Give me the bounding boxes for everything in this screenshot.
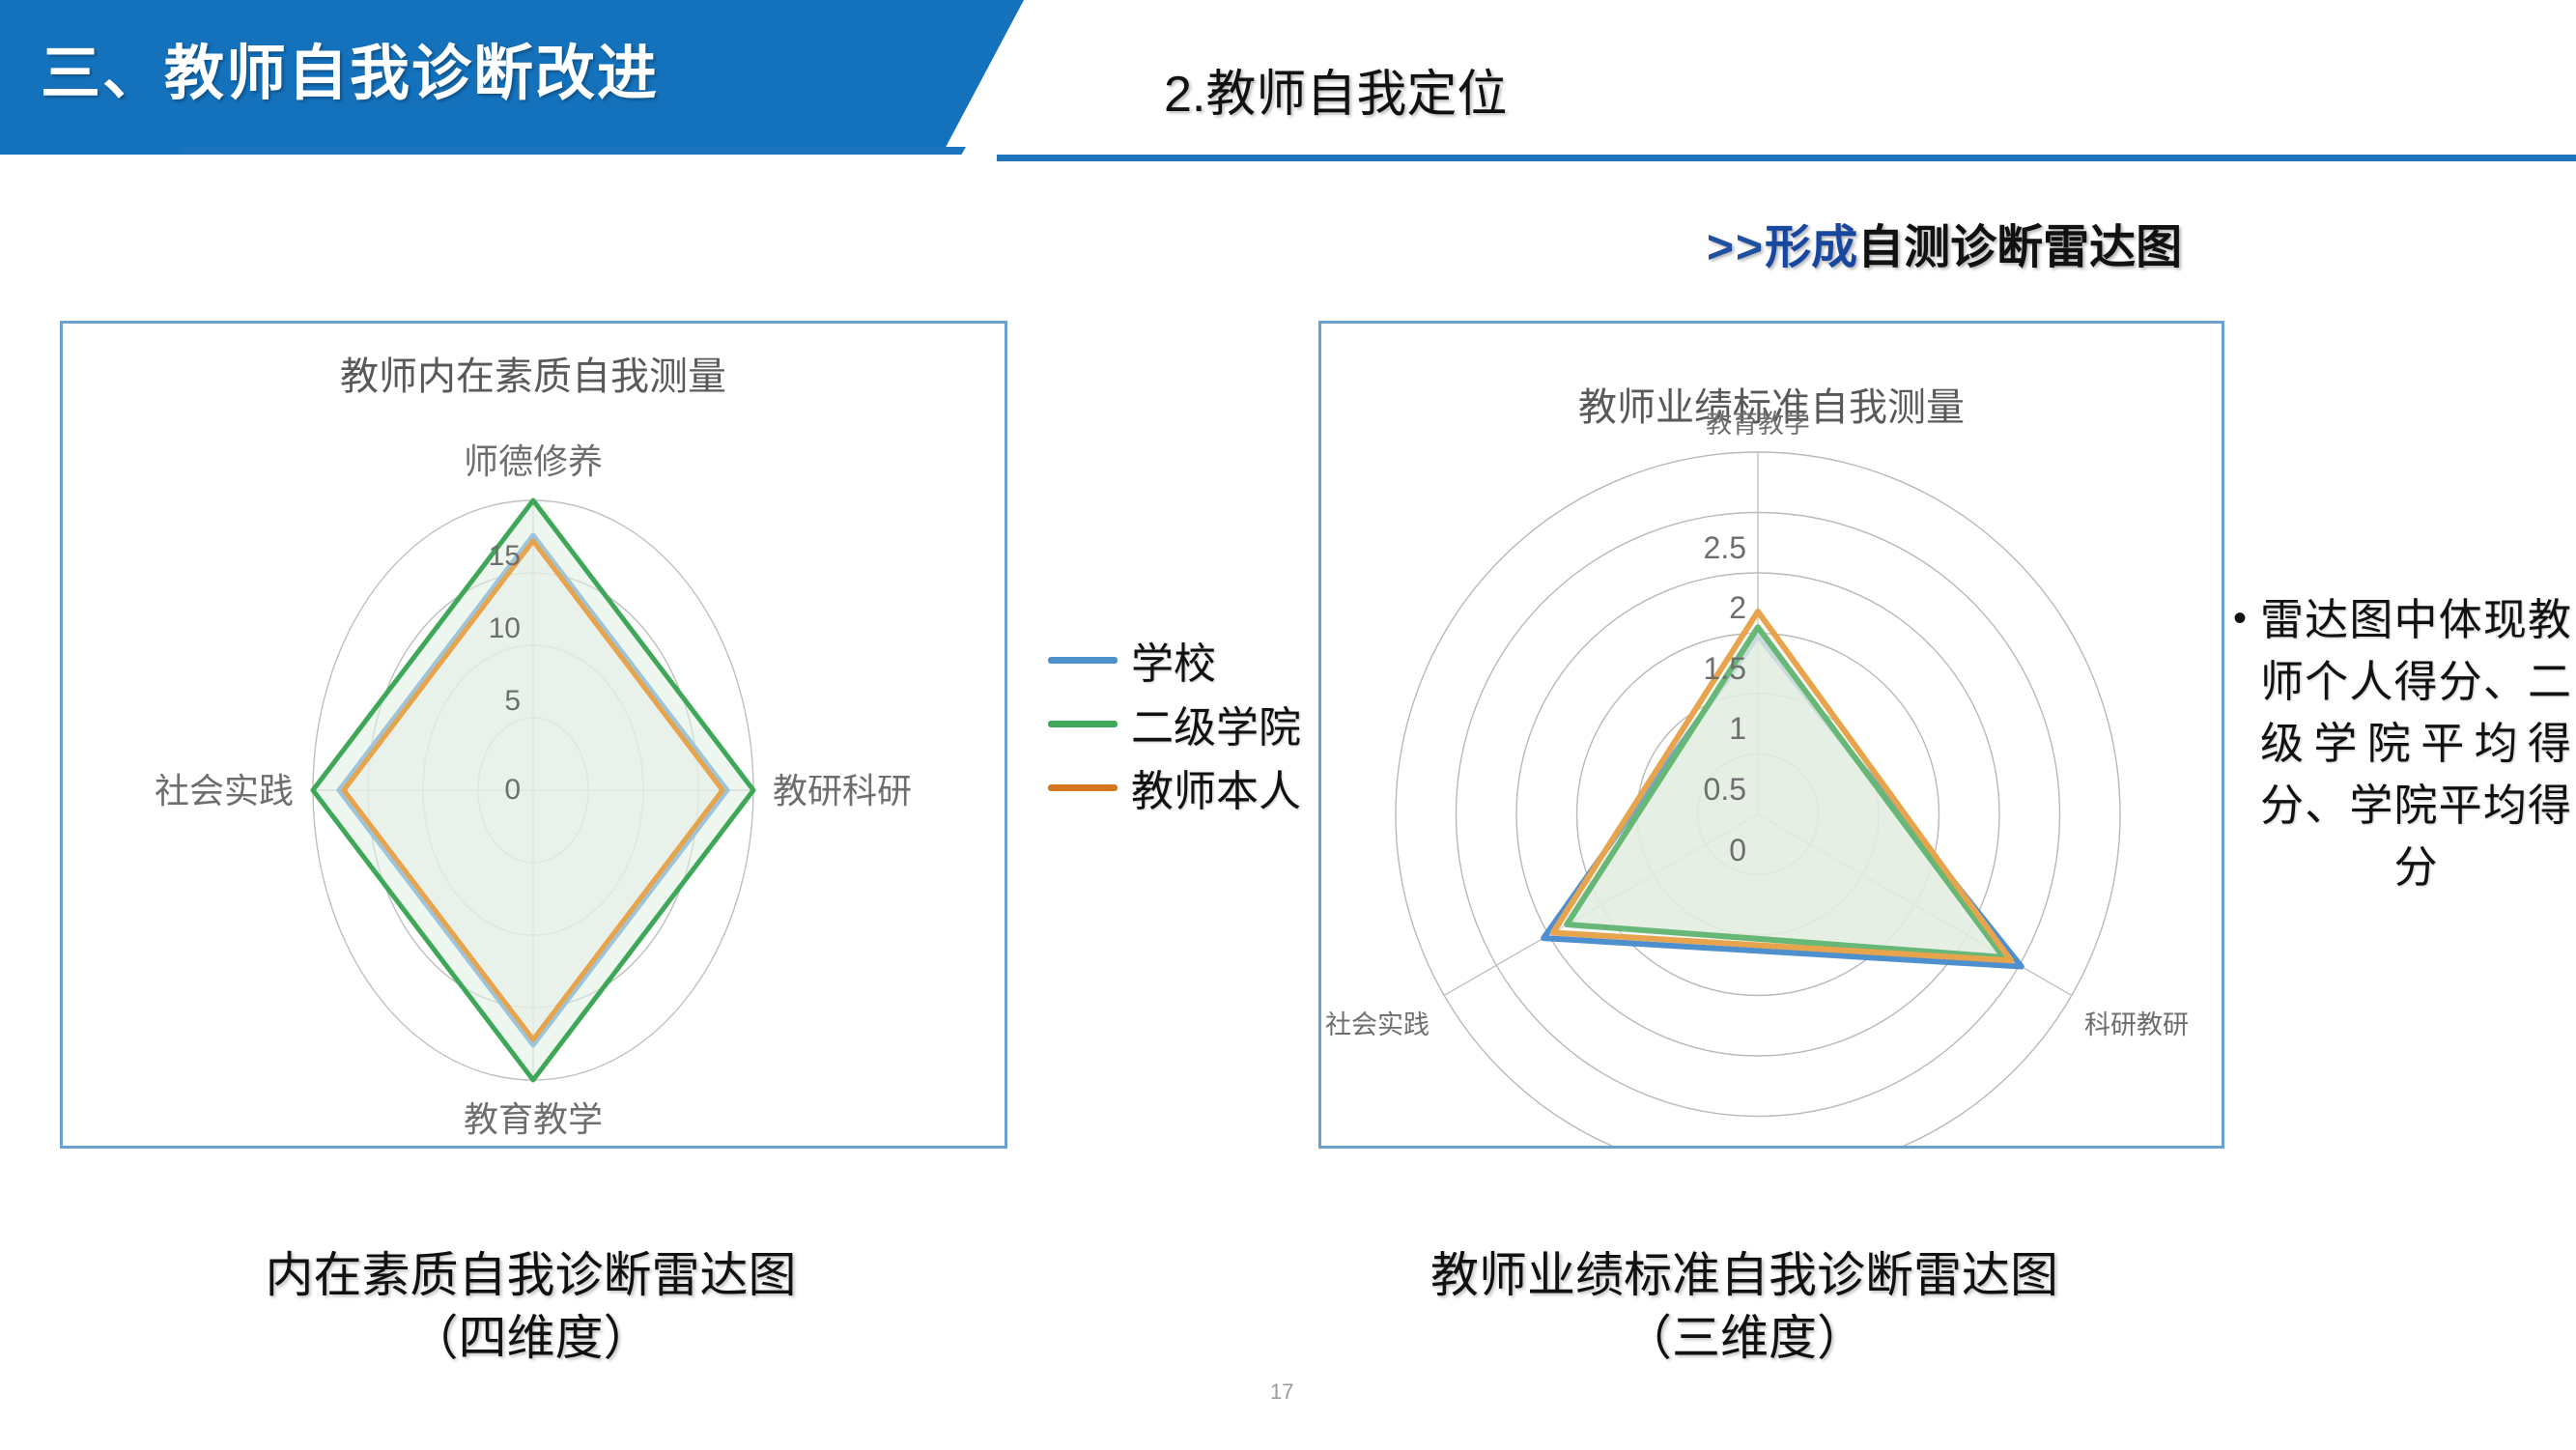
page-number: 17	[1270, 1379, 1293, 1405]
bullet-note-text: 雷达图中体现教师个人得分、二级学院平均得分、学院平均得分	[2260, 589, 2571, 897]
axis-label-right-lower-left: 社会实践	[1325, 1010, 1430, 1039]
legend-swatch-teacher	[1048, 784, 1118, 791]
tick-label-right-1-5: 1.5	[1704, 651, 1746, 686]
legend-swatch-college	[1048, 721, 1118, 727]
axis-label-right-lower-right: 科研教研	[2084, 1010, 2189, 1039]
page-title: 2.教师自我定位	[1164, 53, 1507, 126]
legend-swatch-school	[1048, 657, 1118, 664]
tick-label-right-0: 0	[1729, 833, 1746, 867]
tick-label-right-1: 1	[1729, 711, 1746, 746]
radar-series-teacher-right	[1553, 611, 2011, 960]
caption-right-chart: 教师业绩标准自我诊断雷达图 （三维度）	[1294, 1244, 2194, 1370]
radar-chart-inner-quality: 教师内在素质自我测量 15 10 5 0 师德修养 教研科研 教育教学 社会实践	[63, 324, 1005, 1146]
tick-label-left-15: 15	[489, 540, 521, 572]
axis-label-left-top: 师德修养	[464, 441, 603, 481]
tick-label-right-2: 2	[1729, 590, 1746, 625]
legend-item-teacher: 教师本人	[1048, 755, 1289, 819]
tick-label-left-10: 10	[489, 612, 521, 644]
axis-label-right-top: 教育教学	[1706, 410, 1810, 439]
subheading-highlight: 形成	[1765, 222, 1857, 273]
caption-left-chart: 内在素质自我诊断雷达图 （四维度）	[60, 1244, 1002, 1370]
chart-panel-inner-quality: 教师内在素质自我测量 15 10 5 0 师德修养 教研科研 教育教学 社会实践	[60, 321, 1007, 1149]
axis-label-left-bottom: 教育教学	[464, 1099, 603, 1139]
tick-label-left-5: 5	[504, 685, 521, 717]
tick-label-right-2-5: 2.5	[1704, 530, 1746, 565]
legend-item-college: 二级学院	[1048, 692, 1289, 755]
chart-panel-performance: 教师业绩标准自我测量 2.5 2 1.5 1 0.5 0 教育教学	[1318, 321, 2224, 1149]
legend-label-teacher: 教师本人	[1131, 756, 1301, 818]
tick-label-left-0: 0	[504, 774, 521, 806]
radar-chart-performance: 教师业绩标准自我测量 2.5 2 1.5 1 0.5 0 教育教学	[1321, 324, 2222, 1146]
caption-right-line1: 教师业绩标准自我诊断雷达图	[1430, 1248, 2058, 1302]
caption-left-line1: 内在素质自我诊断雷达图	[266, 1248, 797, 1302]
tick-label-right-0-5: 0.5	[1704, 772, 1746, 807]
chart-legend: 学校 二级学院 教师本人	[1048, 628, 1289, 819]
section-underline	[997, 155, 2576, 161]
legend-label-school: 学校	[1131, 629, 1216, 691]
subheading: >>形成自测诊断雷达图	[1707, 209, 2182, 276]
chart-title-left: 教师内在素质自我测量	[340, 355, 726, 398]
bullet-dot-icon: •	[2233, 599, 2247, 638]
banner-section-title: 三、教师自我诊断改进	[41, 24, 659, 111]
caption-right-line2: （三维度）	[1294, 1307, 2194, 1370]
chevron-right-icon: >>	[1707, 222, 1765, 273]
bullet-note: • 雷达图中体现教师个人得分、二级学院平均得分、学院平均得分	[2233, 589, 2571, 897]
caption-left-line2: （四维度）	[60, 1307, 1002, 1370]
axis-label-left-right: 教研科研	[773, 771, 912, 810]
legend-label-college: 二级学院	[1131, 693, 1301, 754]
axis-label-left-left: 社会实践	[155, 771, 294, 810]
subheading-rest: 自测诊断雷达图	[1857, 222, 2182, 273]
legend-item-school: 学校	[1048, 628, 1289, 692]
radar-series-teacher-left	[344, 541, 722, 1039]
